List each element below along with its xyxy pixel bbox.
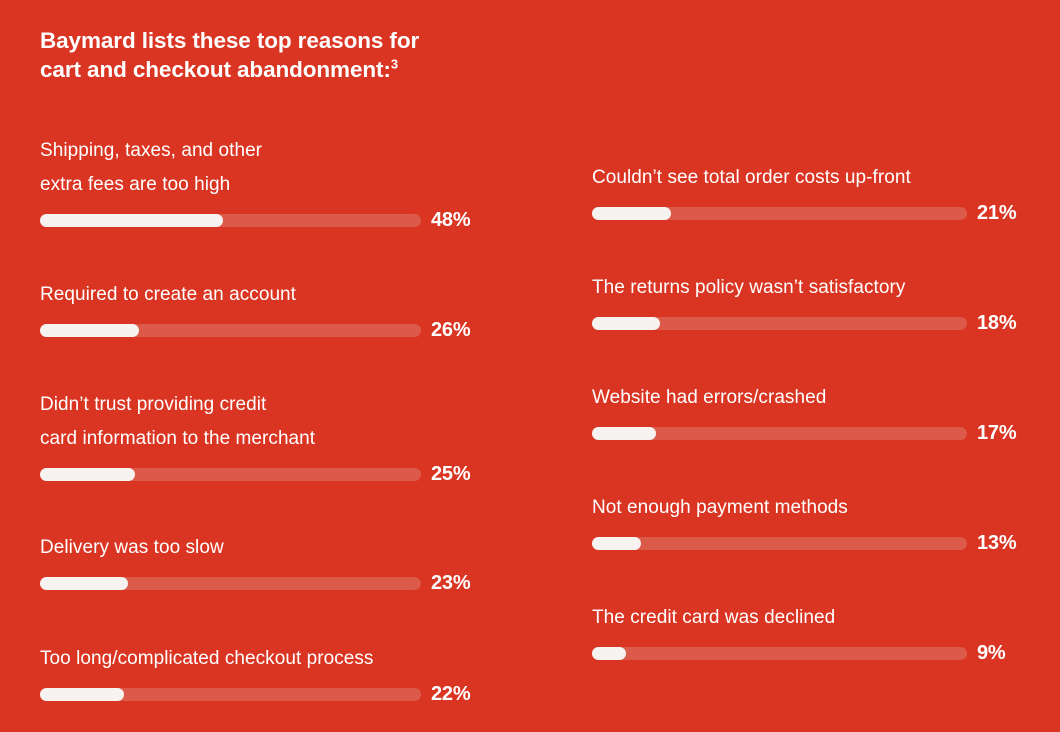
progress-bar-fill <box>592 317 660 330</box>
stat-label-line: Didn’t trust providing credit <box>40 388 475 422</box>
progress-bar-track <box>592 647 967 660</box>
stat-value: 22% <box>431 683 470 706</box>
title-footnote-marker: 3 <box>391 57 398 72</box>
progress-bar-fill <box>592 427 656 440</box>
stat-bar-row: 18% <box>592 312 1020 335</box>
stat-bar-row: 21% <box>592 202 1020 225</box>
stat-bar-row: 48% <box>40 209 475 232</box>
stat-label: Not enough payment methods <box>592 491 1020 525</box>
title-text-2: cart and checkout abandonment: <box>40 57 391 82</box>
progress-bar-track <box>40 324 421 337</box>
stat-bar-row: 17% <box>592 422 1020 445</box>
progress-bar-fill <box>40 214 223 227</box>
stat-item: Website had errors/crashed17% <box>592 381 1020 445</box>
stat-item: Couldn’t see total order costs up-front2… <box>592 161 1020 225</box>
progress-bar-track <box>592 207 967 220</box>
progress-bar-fill <box>40 688 124 701</box>
stat-bar-row: 22% <box>40 683 475 706</box>
stat-value: 21% <box>977 202 1016 225</box>
stat-label-line: Shipping, taxes, and other <box>40 134 475 168</box>
stat-label: Website had errors/crashed <box>592 381 1020 415</box>
progress-bar-track <box>592 317 967 330</box>
stat-value: 13% <box>977 532 1016 555</box>
progress-bar-track <box>40 468 421 481</box>
progress-bar-fill <box>40 468 135 481</box>
stat-label-line: Delivery was too slow <box>40 531 475 565</box>
stat-label: Delivery was too slow <box>40 531 475 565</box>
stat-value: 25% <box>431 463 470 486</box>
progress-bar-fill <box>40 577 128 590</box>
stat-label-line: Website had errors/crashed <box>592 381 1020 415</box>
stat-item: Didn’t trust providing creditcard inform… <box>40 388 475 486</box>
progress-bar-track <box>40 688 421 701</box>
title-line-1: Baymard lists these top reasons for <box>40 26 510 55</box>
stat-label-line: Required to create an account <box>40 278 475 312</box>
stat-bar-row: 26% <box>40 319 475 342</box>
title-text-1: Baymard lists these top reasons for <box>40 28 419 53</box>
stat-item: Delivery was too slow23% <box>40 531 475 595</box>
progress-bar-fill <box>592 647 626 660</box>
title-line-2: cart and checkout abandonment:3 <box>40 55 510 84</box>
stat-label-line: Couldn’t see total order costs up-front <box>592 161 1020 195</box>
stat-label: The credit card was declined <box>592 601 1020 635</box>
progress-bar-fill <box>592 537 641 550</box>
stat-value: 18% <box>977 312 1016 335</box>
stat-value: 26% <box>431 319 470 342</box>
stat-label: Shipping, taxes, and otherextra fees are… <box>40 134 475 202</box>
stat-value: 17% <box>977 422 1016 445</box>
stat-item: Too long/complicated checkout process22% <box>40 642 475 706</box>
progress-bar-fill <box>40 324 139 337</box>
progress-bar-track <box>592 427 967 440</box>
progress-bar-track <box>592 537 967 550</box>
stat-item: Not enough payment methods13% <box>592 491 1020 555</box>
progress-bar-track <box>40 577 421 590</box>
stat-label-line: The returns policy wasn’t satisfactory <box>592 271 1020 305</box>
infographic-root: Baymard lists these top reasons for cart… <box>0 0 1060 732</box>
stat-bar-row: 23% <box>40 572 475 595</box>
progress-bar-fill <box>592 207 671 220</box>
stat-value: 48% <box>431 209 470 232</box>
stat-bar-row: 25% <box>40 463 475 486</box>
stat-label: Didn’t trust providing creditcard inform… <box>40 388 475 456</box>
progress-bar-track <box>40 214 421 227</box>
stat-label-line: Not enough payment methods <box>592 491 1020 525</box>
stat-label-line: extra fees are too high <box>40 168 475 202</box>
stat-value: 9% <box>977 642 1006 665</box>
stat-label-line: Too long/complicated checkout process <box>40 642 475 676</box>
stat-bar-row: 13% <box>592 532 1020 555</box>
stat-label: The returns policy wasn’t satisfactory <box>592 271 1020 305</box>
stat-item: Required to create an account26% <box>40 278 475 342</box>
stat-value: 23% <box>431 572 470 595</box>
stat-label-line: The credit card was declined <box>592 601 1020 635</box>
stat-label: Couldn’t see total order costs up-front <box>592 161 1020 195</box>
stat-bar-row: 9% <box>592 642 1020 665</box>
page-title: Baymard lists these top reasons for cart… <box>40 26 510 84</box>
stat-label: Required to create an account <box>40 278 475 312</box>
stat-item: The credit card was declined9% <box>592 601 1020 665</box>
stat-label-line: card information to the merchant <box>40 422 475 456</box>
stat-item: The returns policy wasn’t satisfactory18… <box>592 271 1020 335</box>
stat-label: Too long/complicated checkout process <box>40 642 475 676</box>
stat-item: Shipping, taxes, and otherextra fees are… <box>40 134 475 232</box>
